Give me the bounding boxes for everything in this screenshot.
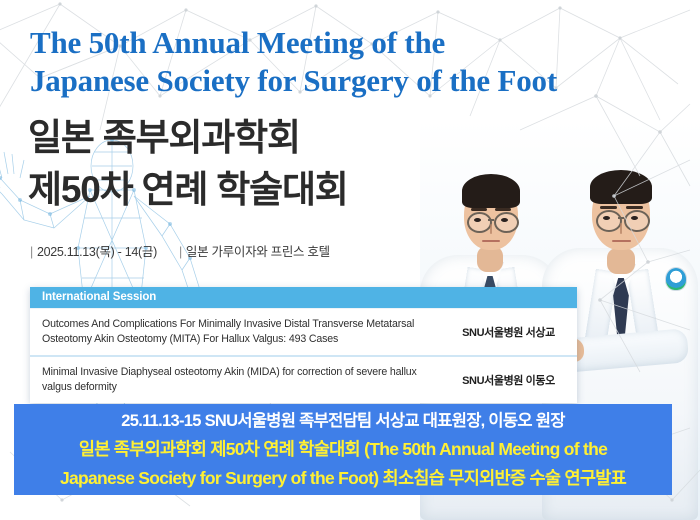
doctor-right-mouth [612,240,631,242]
doctor-right-nose [620,223,622,234]
title-english-line-1: The 50th Annual Meeting of the [30,24,680,62]
session-card-header: International Session [30,287,577,308]
doctor-left-glasses-right-lens [494,212,519,233]
meta-separator-date: | [30,245,33,259]
title-english-line-2: Japanese Society for Surgery of the Foot [30,62,680,100]
title-korean-line-1: 일본 족부외과학회 [28,112,458,164]
banner-line-2: 일본 족부외과학회 제50차 연례 학술대회 (The 50th Annual … [14,435,672,464]
doctor-left-brow-left [471,208,487,211]
banner-line-3: Japanese Society for Surgery of the Foot… [14,464,672,493]
session-row-presenter-badge: SNU서울병원 이동오 [439,357,577,403]
doctor-right-eye-right [631,216,638,220]
doctor-left-brow-right [495,208,511,211]
doctor-right-eye-left [603,216,610,220]
doctor-left-glasses-left-lens [467,212,492,233]
meta-separator-venue: | [179,245,182,259]
doctor-right-neck [607,248,635,274]
doctor-left-eye-left [474,218,481,222]
bottom-caption-banner: 25.11.13-15 SNU서울병원 족부전담팀 서상교 대표원장, 이동오 … [14,404,672,495]
poster-root: The 50th Annual Meeting of the Japanese … [0,0,700,520]
doctor-left-glasses-bridge [488,219,494,221]
session-row-title: Outcomes And Complications For Minimally… [30,309,439,355]
session-row-presenter-badge: SNU서울병원 서상교 [439,309,577,355]
meta-venue: 일본 가루이자와 프린스 호텔 [186,245,330,259]
doctor-right-glasses-left-lens [596,210,622,232]
doctor-right-brow-right [626,206,643,209]
doctor-left-mouth [482,240,500,242]
banner-line-1: 25.11.13-15 SNU서울병원 족부전담팀 서상교 대표원장, 이동오 … [14,408,672,435]
title-korean-line-2: 제50차 연례 학술대회 [28,164,458,216]
meta-date-venue: |2025.11.13(목) - 14(금)|일본 가루이자와 프린스 호텔 [30,241,330,260]
doctor-left-hair [462,174,520,208]
session-row: Outcomes And Complications For Minimally… [30,308,577,355]
title-english: The 50th Annual Meeting of the Japanese … [30,24,680,100]
doctor-left-nose [490,224,492,234]
session-row-title: Minimal Invasive Diaphyseal osteotomy Ak… [30,357,439,403]
doctor-right-hair [590,170,652,204]
doctor-left-eye-right [501,218,508,222]
doctor-right-lapel-logo-icon [666,268,686,290]
international-session-card: International Session Outcomes And Compl… [30,287,577,403]
meta-date: 2025.11.13(목) - 14(금) [37,245,157,259]
doctor-right-brow-left [600,206,617,209]
doctor-right-glasses-bridge [618,217,624,219]
title-korean: 일본 족부외과학회 제50차 연례 학술대회 [28,112,458,216]
session-row: Minimal Invasive Diaphyseal osteotomy Ak… [30,355,577,403]
doctor-right-glasses-right-lens [624,210,650,232]
